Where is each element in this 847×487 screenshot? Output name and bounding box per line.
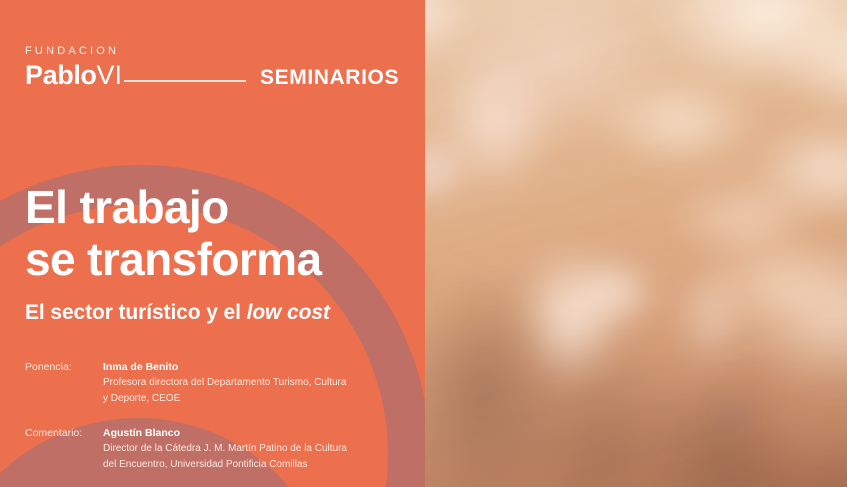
credit-role-label: Ponencia: — [25, 359, 103, 407]
subtitle-italic-text: low cost — [247, 301, 330, 324]
title-line-1: El trabajo — [25, 181, 321, 233]
header-divider-rule — [124, 80, 246, 82]
logo-fundacion-text: FUNDACION — [25, 46, 122, 57]
section-label: SEMINARIOS — [260, 67, 399, 89]
credit-body: Inma de Benito Profesora directora del D… — [103, 359, 405, 407]
logo-pablo-text: Pablo — [25, 60, 97, 90]
photo-panel — [425, 0, 847, 487]
subtitle-plain-text: El sector turístico y el — [25, 301, 247, 324]
credits-list: Ponencia: Inma de Benito Profesora direc… — [25, 359, 405, 473]
credit-description-line: del Encuentro, Universidad Pontificia Co… — [103, 457, 405, 473]
credit-role-label: Comentario: — [25, 425, 103, 473]
page-subtitle: El sector turístico y el low cost — [25, 301, 330, 325]
orange-panel: FUNDACION PabloVI SEMINARIOS El trabajo … — [0, 0, 425, 487]
seminar-poster: FUNDACION PabloVI SEMINARIOS El trabajo … — [0, 0, 847, 487]
credit-description-line: y Deporte, CEOE — [103, 391, 405, 407]
page-title: El trabajo se transforma — [25, 181, 321, 285]
logo-vi-text: VI — [97, 60, 123, 90]
credit-description-line: Profesora directora del Departamento Tur… — [103, 375, 405, 391]
logo-name: PabloVI — [25, 62, 122, 89]
credit-person-name: Inma de Benito — [103, 359, 405, 375]
credit-description-line: Director de la Cátedra J. M. Martín Pati… — [103, 441, 405, 457]
header: FUNDACION PabloVI SEMINARIOS — [25, 46, 405, 89]
panel-content: FUNDACION PabloVI SEMINARIOS El trabajo … — [0, 0, 425, 487]
credit-person-name: Agustín Blanco — [103, 425, 405, 441]
photo-tint-layer — [425, 0, 847, 487]
credit-body: Agustín Blanco Director de la Cátedra J.… — [103, 425, 405, 473]
credit-block: Comentario: Agustín Blanco Director de l… — [25, 425, 405, 473]
credit-block: Ponencia: Inma de Benito Profesora direc… — [25, 359, 405, 407]
title-line-2: se transforma — [25, 233, 321, 285]
brand-logo[interactable]: FUNDACION PabloVI — [25, 46, 122, 89]
